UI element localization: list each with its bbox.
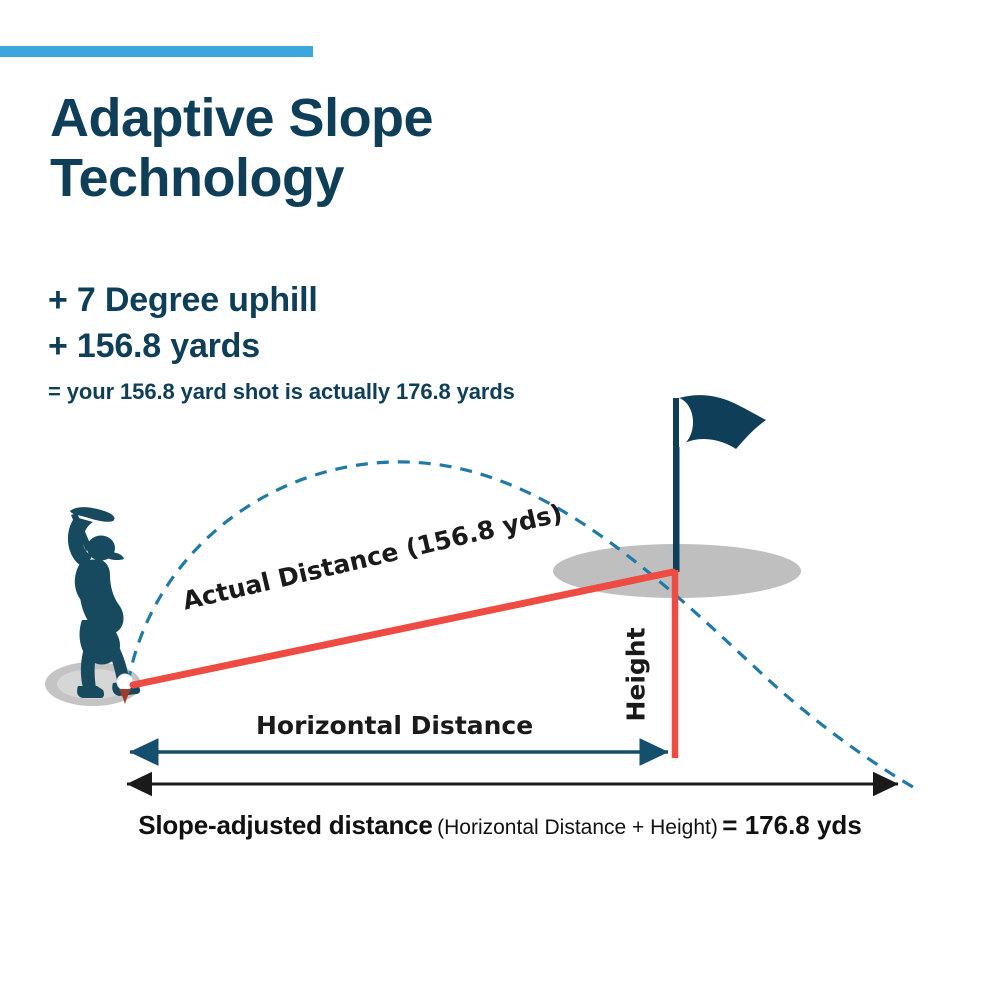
caption: Slope-adjusted distance (Horizontal Dist…	[0, 810, 1000, 841]
infographic-page: Adaptive Slope Technology + 7 Degree uph…	[0, 0, 1000, 1000]
caption-paren: (Horizontal Distance + Height)	[437, 816, 718, 839]
golf-flag-pole	[673, 398, 680, 572]
height-label: Height	[622, 627, 651, 721]
horizontal-distance-label: Horizontal Distance	[256, 711, 533, 740]
golf-ball-icon	[117, 674, 133, 690]
caption-strong: Slope-adjusted distance	[138, 810, 432, 840]
caption-equals: = 176.8 yds	[722, 810, 862, 840]
slope-diagram	[0, 0, 1000, 1000]
